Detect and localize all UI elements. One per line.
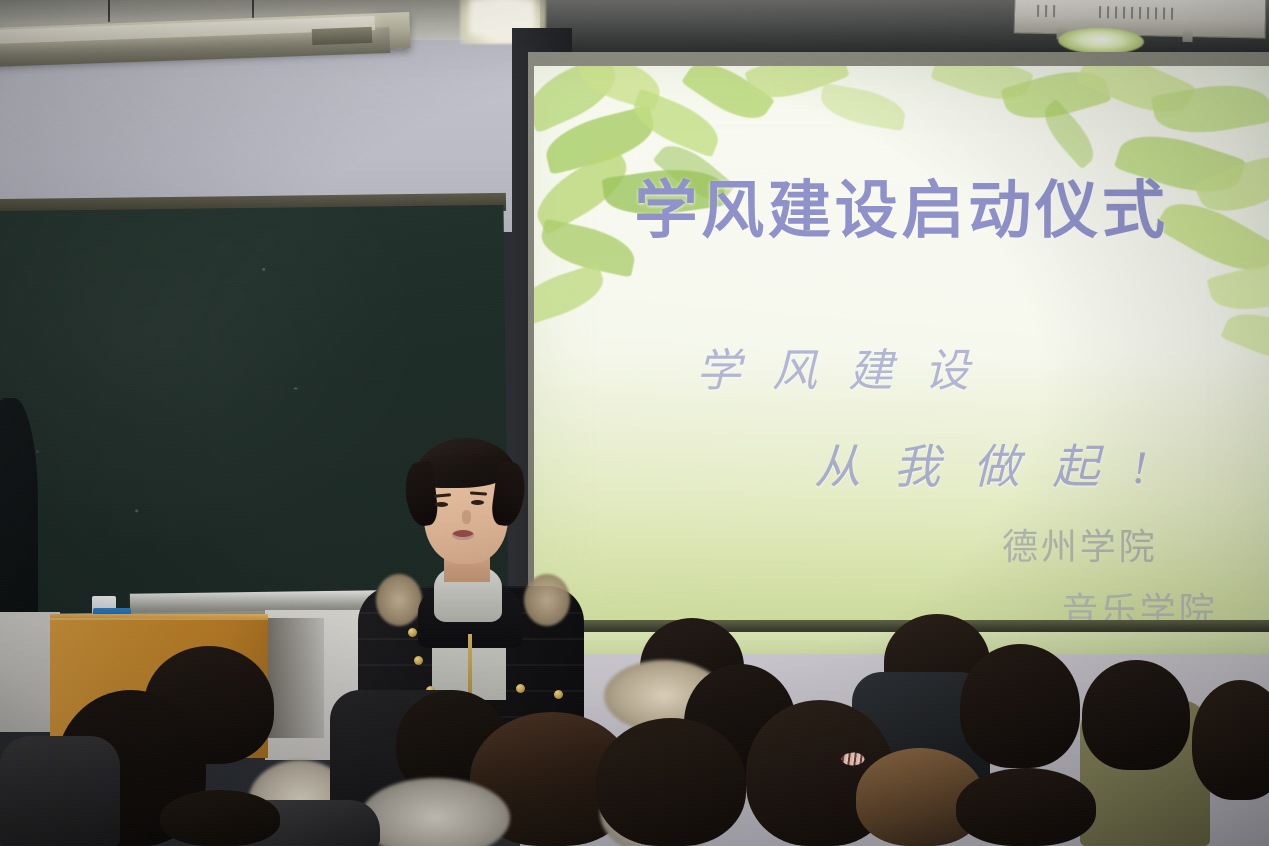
presenter-eye-left <box>435 502 448 507</box>
slide-title: 学风建设启动仪式 <box>534 160 1269 251</box>
ceiling-projector <box>1014 0 1267 39</box>
slide-organization-line-2: 音乐学院 <box>1062 582 1218 622</box>
light-fixture-end <box>312 27 373 45</box>
audience-head <box>956 768 1096 846</box>
audience-coat <box>0 736 120 846</box>
presenter-fur-hood-left <box>376 574 422 626</box>
slide-subtitle-line-2: 从 我 做 起 ! <box>814 428 1158 497</box>
presenter-snap-button <box>414 656 423 665</box>
slide-subtitle-line-1: 学 风 建 设 <box>696 334 979 399</box>
light-hanger-wire <box>108 0 110 22</box>
presenter-pocket-detail <box>554 690 563 699</box>
audience-head <box>160 790 280 846</box>
audience-head <box>596 718 746 846</box>
audience-head <box>1082 660 1190 770</box>
leaf-decoration <box>1220 302 1269 372</box>
projection-screen: 学风建设启动仪式 学 风 建 设 从 我 做 起 ! 德州学院 音乐学院 <box>534 66 1269 622</box>
presenter-eye-right <box>471 500 484 505</box>
presenter-fur-hood-right <box>524 574 570 626</box>
presenter-snap-button <box>408 628 417 637</box>
leaf-decoration <box>818 83 909 131</box>
audience-head <box>960 644 1080 768</box>
presenter-nose <box>462 510 471 524</box>
classroom-photo-scene: 学风建设启动仪式 学 风 建 设 从 我 做 起 ! 德州学院 音乐学院 <box>0 0 1269 846</box>
podium-shadow <box>268 618 324 738</box>
presenter-pocket-detail <box>516 684 525 693</box>
slide-organization-line-1: 德州学院 <box>1002 518 1158 570</box>
leaf-decoration <box>534 263 610 328</box>
presenter-mouth <box>452 530 474 540</box>
